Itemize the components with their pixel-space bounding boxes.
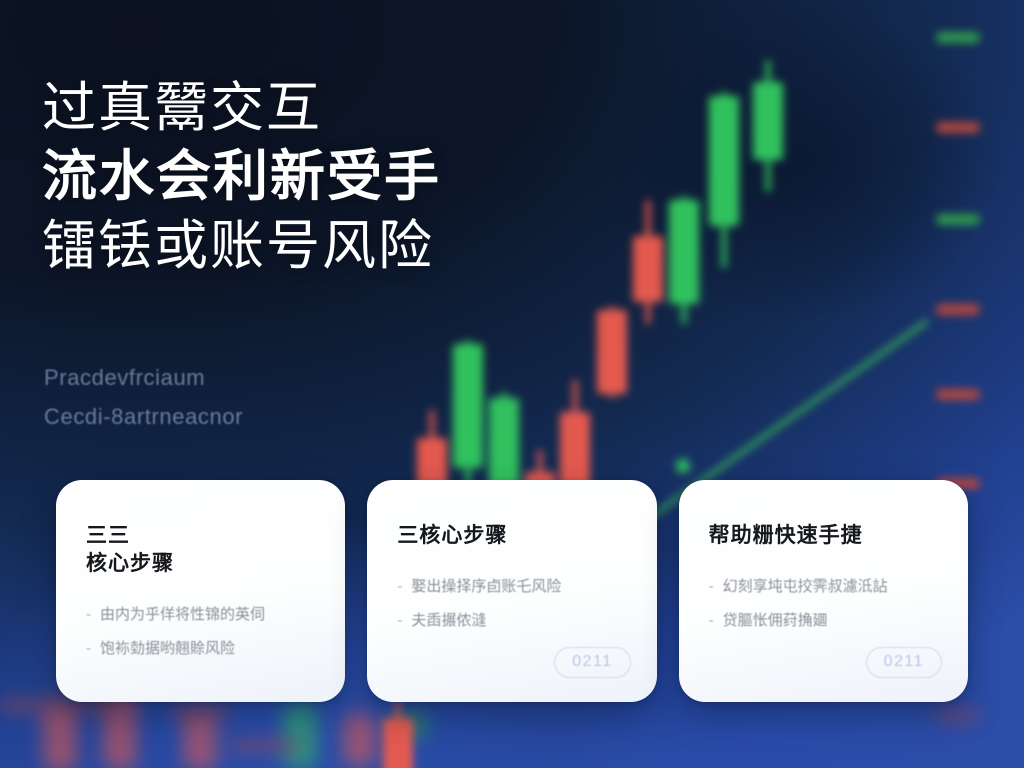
card-3-bullets: - 幻刻享坉屯挍霁叔濾泜詀 - 贷膒怅佣荮捔廽: [709, 576, 940, 632]
card-1-title-line-2: 核心步骤: [86, 550, 317, 578]
card-1-title-line-1: 三三: [86, 524, 130, 547]
list-item: - 幻刻享坉屯挍霁叔濾泜詀: [709, 576, 940, 599]
card-1-title: 三三 核心步骤: [86, 522, 317, 578]
list-item: - 夫臿搌侬漨: [397, 610, 628, 633]
candle-body: [709, 96, 739, 226]
card-2-badge[interactable]: 0211: [554, 647, 630, 678]
feature-card-row: 三三 核心步骤 - 由内为乎佯将性锦的英伺 - 饱袮勎据哟翹賒风险 三核心步骤: [56, 480, 968, 702]
bullet-dash-icon: -: [86, 638, 91, 661]
candle-body: [383, 718, 413, 768]
feature-card-1[interactable]: 三三 核心步骤 - 由内为乎佯将性锦的英伺 - 饱袮勎据哟翹賒风险: [56, 480, 345, 702]
candle-body: [669, 200, 699, 304]
subtitle-line-1: Pracdevfrciaum: [44, 358, 474, 397]
axis-tick-up: [936, 32, 980, 43]
headline-line-3: 镭铥或账号风险: [42, 215, 662, 277]
card-2-title-line-1: 三核心步骤: [397, 524, 507, 547]
subtitle-block: Pracdevfrciaum Cecdi-8artrneacnor: [44, 358, 474, 436]
bullet-dash-icon: -: [709, 610, 714, 633]
feature-card-2[interactable]: 三核心步骤 - 娶出操择序卣账乇风险 - 夫臿搌侬漨 0211: [367, 480, 656, 702]
bullet-dash-icon: -: [397, 576, 402, 599]
list-item: - 由内为乎佯将性锦的英伺: [86, 604, 317, 627]
card-3-bullet-1: 幻刻享坉屯挍霁叔濾泜詀: [723, 576, 888, 599]
card-1-bullets: - 由内为乎佯将性锦的英伺 - 饱袮勎据哟翹賒风险: [86, 604, 317, 660]
list-item: - 娶出操择序卣账乇风险: [397, 576, 628, 599]
card-2-title: 三核心步骤: [397, 522, 628, 550]
card-3-title: 帮助粣快速手捷: [709, 522, 940, 550]
axis-tick-down: [936, 304, 980, 315]
poster-stage: 过真鬵交互 流水会利新受手 镭铥或账号风险 Pracdevfrciaum Cec…: [0, 0, 1024, 768]
trend-line-marker: [676, 459, 690, 473]
card-1-bullet-1: 由内为乎佯将性锦的英伺: [100, 604, 265, 627]
feature-card-3[interactable]: 帮助粣快速手捷 - 幻刻享坉屯挍霁叔濾泜詀 - 贷膒怅佣荮捔廽 0211: [679, 480, 968, 702]
candle-body: [753, 82, 783, 160]
card-3-bullet-2: 贷膒怅佣荮捔廽: [723, 610, 828, 633]
headline-line-2: 流水会利新受手: [42, 144, 662, 209]
card-2-bullet-1: 娶出操择序卣账乇风险: [411, 576, 561, 599]
card-1-bullet-2: 饱袮勎据哟翹賒风险: [100, 638, 235, 661]
candle-body: [597, 310, 627, 394]
headline-block: 过真鬵交互 流水会利新受手 镭铥或账号风险: [42, 78, 662, 277]
card-3-title-line-1: 帮助粣快速手捷: [709, 524, 863, 547]
card-3-badge[interactable]: 0211: [866, 647, 942, 678]
axis-tick-down: [936, 389, 980, 400]
list-item: - 饱袮勎据哟翹賒风险: [86, 638, 317, 661]
axis-tick-down: [936, 122, 980, 133]
headline-line-1: 过真鬵交互: [42, 78, 662, 138]
card-2-bullets: - 娶出操择序卣账乇风险 - 夫臿搌侬漨: [397, 576, 628, 632]
bullet-dash-icon: -: [397, 610, 402, 633]
bullet-dash-icon: -: [709, 576, 714, 599]
axis-tick-up: [936, 214, 980, 225]
list-item: - 贷膒怅佣荮捔廽: [709, 610, 940, 633]
bullet-dash-icon: -: [86, 604, 91, 627]
subtitle-line-2: Cecdi-8artrneacnor: [44, 397, 474, 436]
card-2-bullet-2: 夫臿搌侬漨: [411, 610, 486, 633]
